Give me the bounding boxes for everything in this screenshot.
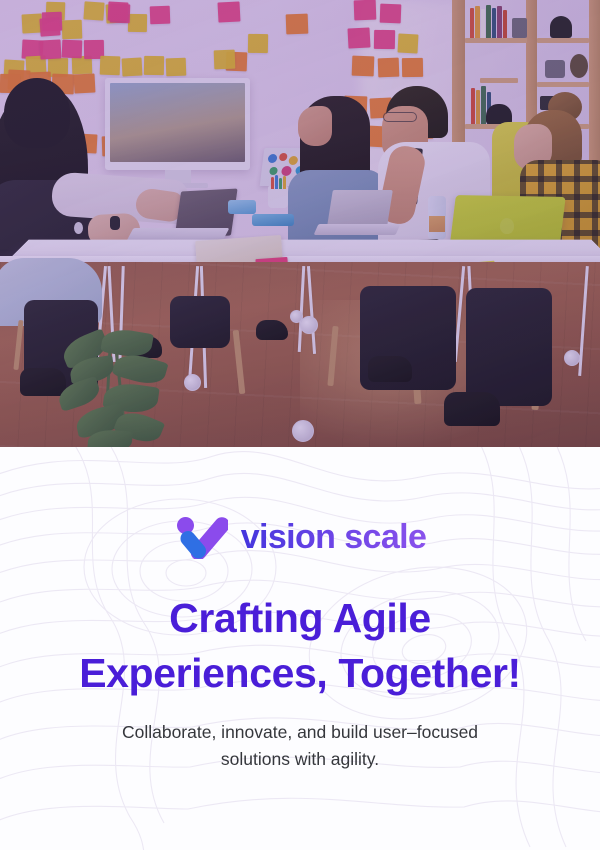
sticky-note bbox=[248, 34, 268, 53]
sticky-note bbox=[352, 56, 375, 77]
sticky-note bbox=[354, 0, 377, 20]
person-legs bbox=[466, 288, 552, 406]
potted-plant bbox=[58, 330, 188, 447]
headline-line-1: Crafting Agile bbox=[0, 591, 600, 646]
person-woman-denim-face bbox=[298, 106, 332, 146]
sticky-note bbox=[214, 50, 236, 70]
laptop-middle-screen bbox=[327, 190, 393, 226]
eyeglasses-icon bbox=[383, 112, 417, 122]
blue-desk-object-2 bbox=[252, 214, 294, 226]
laptop-green-logo bbox=[500, 218, 514, 234]
sticky-note bbox=[83, 1, 104, 20]
sticky-note bbox=[347, 27, 370, 48]
sticky-note bbox=[40, 39, 62, 59]
sticky-note bbox=[39, 17, 60, 36]
brand-lockup: vision scale bbox=[0, 515, 600, 559]
sticky-note bbox=[374, 30, 395, 49]
sticky-note bbox=[398, 33, 419, 53]
sticky-note bbox=[150, 6, 171, 25]
subhead-line-1: Collaborate, innovate, and build user–fo… bbox=[0, 719, 600, 746]
shoe bbox=[368, 356, 412, 382]
headline-line-2: Experiences, Together! bbox=[0, 646, 600, 701]
person-front-head bbox=[4, 78, 70, 148]
sticky-note bbox=[166, 58, 187, 77]
sticky-note bbox=[380, 4, 402, 24]
wristwatch-2 bbox=[74, 222, 83, 234]
checkmark-logo-icon bbox=[174, 515, 228, 559]
laptop-middle-base bbox=[314, 224, 401, 235]
poster-canvas: vision scale Crafting Agile Experiences,… bbox=[0, 0, 600, 850]
pen-cup bbox=[268, 186, 288, 208]
sticky-note bbox=[144, 56, 164, 75]
hero-photo bbox=[0, 0, 600, 447]
sticky-note bbox=[402, 58, 423, 77]
sticky-note bbox=[217, 1, 240, 22]
caster-wheel bbox=[564, 350, 580, 366]
sticky-note bbox=[62, 20, 83, 40]
page-subtitle: Collaborate, innovate, and build user–fo… bbox=[0, 719, 600, 773]
sticky-note bbox=[378, 58, 400, 78]
subhead-line-2: solutions with agility. bbox=[0, 746, 600, 773]
sticky-note bbox=[74, 73, 96, 93]
sticky-note bbox=[62, 40, 83, 59]
caster-wheel bbox=[300, 316, 318, 334]
brand-wordmark: vision scale bbox=[241, 520, 427, 554]
sticky-note bbox=[122, 57, 143, 76]
page-title: Crafting Agile Experiences, Together! bbox=[0, 591, 600, 702]
sticky-note bbox=[108, 1, 129, 21]
shoe bbox=[444, 392, 500, 426]
blue-desk-object-1 bbox=[228, 200, 256, 214]
shoe bbox=[256, 320, 288, 340]
wristwatch bbox=[110, 216, 120, 230]
caster-wheel bbox=[292, 420, 314, 442]
water-bottle-label bbox=[429, 216, 445, 232]
brand-section: vision scale Crafting Agile Experiences,… bbox=[0, 447, 600, 850]
sticky-note bbox=[100, 56, 121, 76]
sticky-note bbox=[128, 14, 147, 32]
monitor-screen bbox=[110, 83, 245, 162]
sticky-note bbox=[286, 14, 309, 35]
